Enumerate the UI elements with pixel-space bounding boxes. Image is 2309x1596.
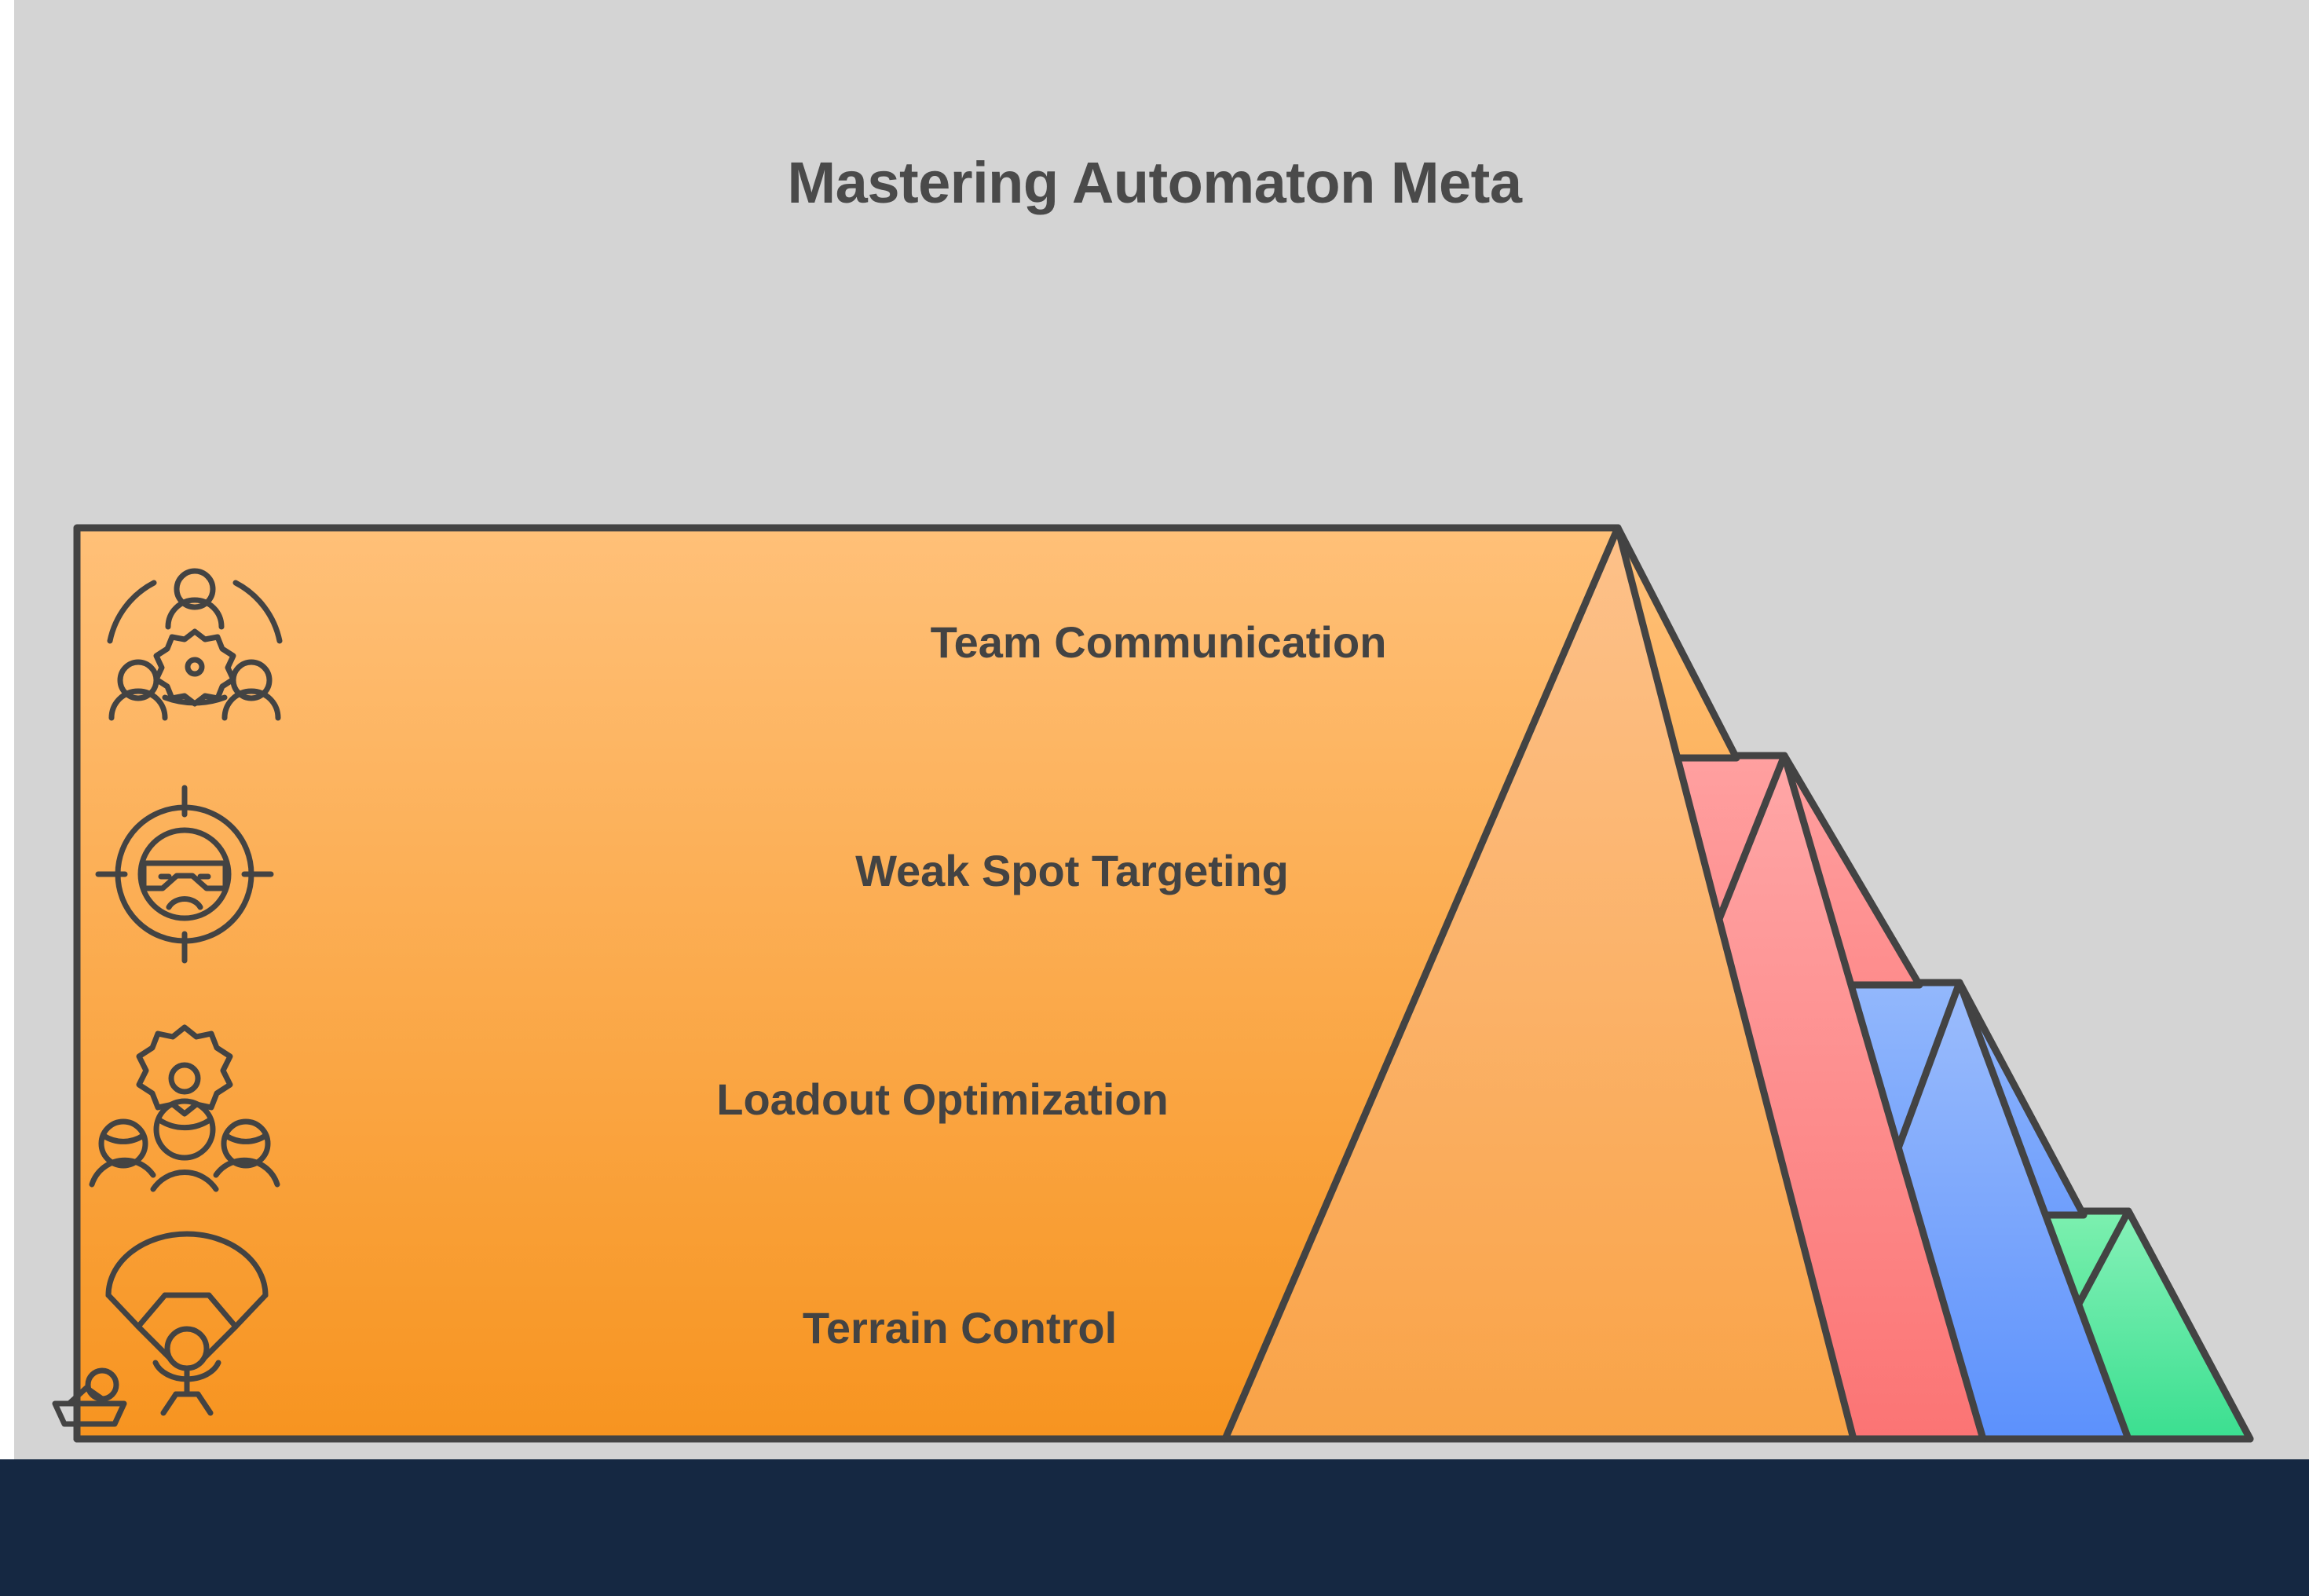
- mountain-chart: Team Communication Weak Spot Targeting L…: [0, 0, 2309, 1596]
- level-label-team-communication: Team Communication: [931, 617, 1387, 667]
- level-label-loadout-optimization: Loadout Optimization: [716, 1074, 1168, 1124]
- level-label-weak-spot-targeting: Weak Spot Targeting: [855, 846, 1289, 895]
- level-label-terrain-control: Terrain Control: [803, 1303, 1117, 1353]
- footer-bar: [0, 1459, 2309, 1596]
- infographic-canvas: Mastering Automaton Meta: [0, 0, 2309, 1596]
